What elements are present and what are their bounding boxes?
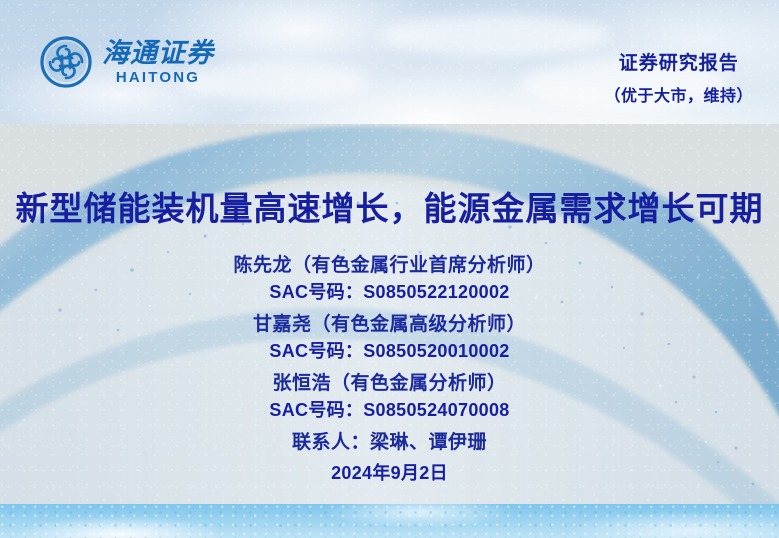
haitong-circular-emblem-icon bbox=[40, 36, 92, 88]
report-kind-label: 证券研究报告 bbox=[604, 48, 753, 75]
analyst-name: 陈先龙（有色金属行业首席分析师） bbox=[0, 256, 779, 275]
analyst-sac-code: SAC号码：S0850522120002 bbox=[0, 283, 779, 301]
page-title: 新型储能装机量高速增长，能源金属需求增长可期 bbox=[0, 182, 779, 230]
analyst-name: 张恒浩（有色金属分析师） bbox=[0, 374, 779, 393]
report-rating-label: （优于大市，维持） bbox=[604, 82, 753, 106]
analyst-sac-code: SAC号码：S0850520010002 bbox=[0, 342, 779, 360]
analyst-byline-block: 陈先龙（有色金属行业首席分析师） SAC号码：S0850522120002 甘嘉… bbox=[0, 256, 779, 482]
logo-chinese-name: 海通证券 bbox=[102, 40, 214, 67]
logo-english-name: HAITONG bbox=[116, 70, 200, 85]
report-cover-slide: 海通证券 HAITONG 证券研究报告 （优于大市，维持） 新型储能装机量高速增… bbox=[0, 0, 779, 538]
contacts-line: 联系人：梁琳、谭伊珊 bbox=[0, 433, 779, 452]
report-type-block: 证券研究报告 （优于大市，维持） bbox=[604, 48, 753, 106]
analyst-sac-code: SAC号码：S0850524070008 bbox=[0, 401, 779, 419]
cover-content: 新型储能装机量高速增长，能源金属需求增长可期 陈先龙（有色金属行业首席分析师） … bbox=[0, 124, 779, 538]
analyst-name: 甘嘉尧（有色金属高级分析师） bbox=[0, 315, 779, 334]
haitong-logo: 海通证券 HAITONG bbox=[40, 36, 214, 88]
cover-header: 海通证券 HAITONG 证券研究报告 （优于大市，维持） bbox=[0, 0, 779, 124]
report-date: 2024年9月2日 bbox=[0, 464, 779, 482]
